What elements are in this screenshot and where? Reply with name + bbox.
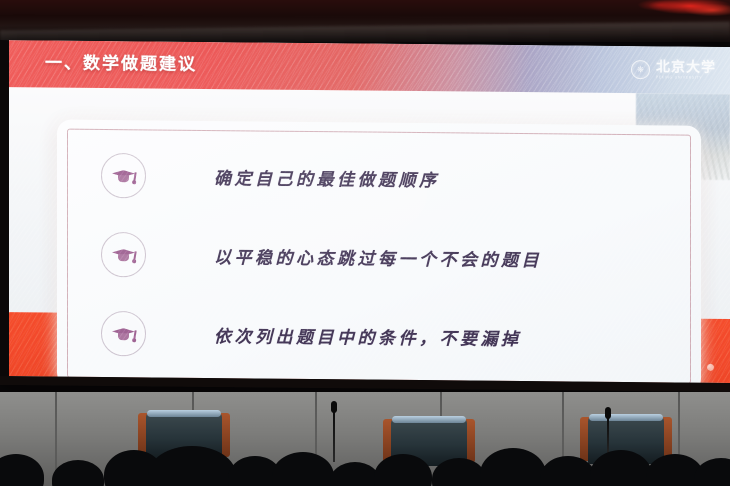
list-item-text: 确定自己的最佳做题顺序 — [214, 164, 440, 191]
audience-silhouettes — [0, 416, 730, 486]
list-item: 依次列出题目中的条件，不要漏掉 — [57, 311, 701, 362]
projection-screen: 一、数学做题建议 ❋ 北京大学 PEKING UNIVERSITY 确定自己的最… — [0, 40, 730, 392]
list-item: 确定自己的最佳做题顺序 — [57, 153, 701, 204]
graduation-cap-icon — [101, 153, 146, 198]
university-seal-icon: ❋ — [631, 60, 650, 79]
graduation-cap-icon — [101, 311, 146, 356]
slide-title: 一、数学做题建议 — [45, 48, 197, 74]
university-logo: ❋ 北京大学 PEKING UNIVERSITY — [631, 60, 716, 80]
list-item: 以平稳的心态跳过每一个不会的题目 — [57, 232, 701, 283]
ceiling-lights — [0, 0, 730, 42]
content-card: 确定自己的最佳做题顺序 以平稳的心态跳过每一个不会的题目 依次列出题目中的条件，… — [57, 120, 701, 383]
bullet-list: 确定自己的最佳做题顺序 以平稳的心态跳过每一个不会的题目 依次列出题目中的条件，… — [57, 120, 701, 383]
presentation-slide: 一、数学做题建议 ❋ 北京大学 PEKING UNIVERSITY 确定自己的最… — [9, 40, 730, 383]
page-indicator-dot — [707, 364, 714, 371]
list-item-text: 以平稳的心态跳过每一个不会的题目 — [214, 243, 542, 271]
list-item-text: 依次列出题目中的条件，不要漏掉 — [214, 322, 522, 350]
graduation-cap-icon — [101, 232, 146, 277]
university-name-cn: 北京大学 — [656, 60, 716, 75]
auditorium-room: 一、数学做题建议 ❋ 北京大学 PEKING UNIVERSITY 确定自己的最… — [0, 0, 730, 486]
university-name-block: 北京大学 PEKING UNIVERSITY — [656, 60, 716, 80]
screen-frame-left — [0, 40, 9, 385]
university-name-en: PEKING UNIVERSITY — [656, 76, 716, 80]
